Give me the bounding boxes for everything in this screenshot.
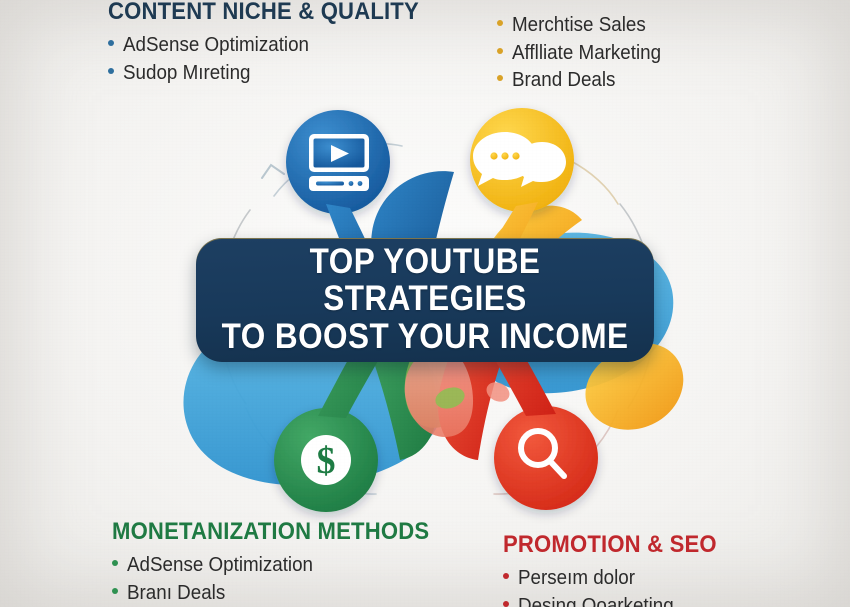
bullet-list-monetization: AdSense Optimization Branı Deals Sherer … [112, 552, 457, 607]
list-item: Brand Deals [497, 67, 671, 95]
section-title-monetization: MONETANIZATION METHODS [112, 518, 429, 546]
bullet-list-content-niche: AdSense Optimization Sudop Mıreting [108, 32, 446, 87]
section-monetization-methods: MONETANIZATION METHODS AdSense Optimizat… [112, 518, 457, 607]
bullet-list-promotion: Perseım dolor Desing Qoarketing [503, 565, 735, 607]
bullet-dot-icon [503, 573, 509, 579]
banner-title-line-1: TOP YOUTUBE STRATEGIES [219, 244, 631, 317]
list-item-label: AdSense Optimization [127, 552, 313, 580]
bullet-dot-icon [108, 40, 114, 46]
list-item: Afflliate Marketing [497, 40, 671, 68]
banner-title-line-2: TO BOOST YOUR INCOME [222, 319, 629, 355]
list-item-label: Sudop Mıreting [123, 60, 251, 88]
bullet-list-revenue: Merchtise Sales Afflliate Marketing Bran… [497, 12, 671, 95]
list-item-label: Brand Deals [512, 67, 615, 95]
main-title-banner: TOP YOUTUBE STRATEGIES TO BOOST YOUR INC… [196, 238, 654, 362]
list-item-label: Desing Qoarketing [518, 593, 674, 607]
list-item-label: Afflliate Marketing [512, 40, 661, 68]
bullet-dot-icon [112, 588, 118, 594]
icon-circle-red [494, 406, 598, 510]
video-player-icon [309, 134, 369, 191]
list-item: Sudop Mıreting [108, 60, 446, 88]
bullet-dot-icon [108, 68, 114, 74]
section-revenue-streams: Merchtise Sales Afflliate Marketing Bran… [497, 6, 671, 95]
bullet-dot-icon [497, 75, 503, 81]
list-item-label: Perseım dolor [518, 565, 635, 593]
list-item-label: AdSense Optimization [123, 32, 309, 60]
bullet-dot-icon [112, 560, 118, 566]
dollar-coin-icon: $ [301, 435, 351, 485]
infographic-poster: $ TOP YOUTUBE STRATEGIES TO [0, 0, 850, 607]
svg-text:$: $ [317, 440, 336, 482]
list-item: AdSense Optimization [112, 552, 457, 580]
list-item-label: Merchtise Sales [512, 12, 646, 40]
bullet-dot-icon [497, 48, 503, 54]
list-item-label: Branı Deals [127, 580, 225, 607]
section-promotion-seo: PROMOTION & SEO Perseım dolor Desing Qoa… [503, 531, 735, 607]
list-item: Branı Deals [112, 580, 457, 607]
list-item: Desing Qoarketing [503, 593, 735, 607]
list-item: Merchtise Sales [497, 12, 671, 40]
section-content-niche: CONTENT NICHE & QUALITY AdSense Optimiza… [108, 0, 446, 87]
bullet-dot-icon [497, 20, 503, 26]
section-title-promotion: PROMOTION & SEO [503, 531, 717, 559]
section-title-content-niche: CONTENT NICHE & QUALITY [108, 0, 419, 26]
list-item: Perseım dolor [503, 565, 735, 593]
list-item: AdSense Optimization [108, 32, 446, 60]
bullet-dot-icon [503, 601, 509, 607]
